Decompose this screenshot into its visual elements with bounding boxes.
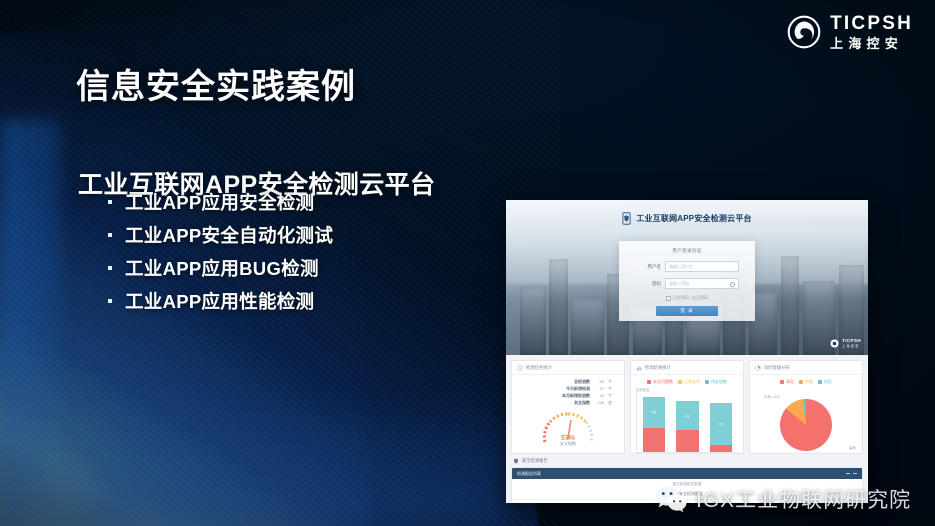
pie-chart-icon: [755, 365, 761, 371]
bullet-dot-icon: [108, 299, 112, 303]
panel-title-bar: 检测报告列表: [512, 468, 862, 479]
legend-item[interactable]: 高危: [780, 379, 794, 385]
pie-callout-label: 中危 12%: [764, 395, 779, 400]
bar-value: 52: [652, 410, 656, 415]
bar-segment-pending: 49: [676, 401, 698, 430]
feature-list: 工业APP应用安全检测 工业APP安全自动化测试 工业APP应用BUG检测 工业…: [108, 185, 468, 317]
platform-title: 工业互联网APP安全检测云平台: [636, 213, 751, 224]
bar-group: 52: [643, 392, 665, 452]
hero-corner-logo: TICPSH 上海控安: [830, 339, 861, 348]
list-item: 工业APP安全自动化测试: [108, 218, 468, 251]
stat-unit: 分: [608, 400, 614, 406]
ticpsh-swirl-icon: [787, 15, 821, 49]
legend-label: 高危: [786, 379, 794, 385]
bar-value: 49: [685, 413, 689, 418]
legend-swatch: [780, 380, 784, 384]
panel-controls[interactable]: [846, 473, 857, 474]
report-section-header: 安全检测报告: [511, 454, 863, 467]
stat-value: 15: [594, 393, 604, 398]
platform-header: 工业互联网APP安全检测云平台: [506, 212, 868, 225]
stat-key: 总检测数: [574, 379, 590, 385]
card-header: 检测结果统计: [631, 361, 743, 375]
username-placeholder: 请输入用户名: [669, 264, 693, 270]
dashboard-cards: 检测任务统计 总检测数 52 个 今天新增检测 47 个: [511, 360, 863, 454]
report-section-title: 安全检测报告: [522, 458, 548, 464]
password-input[interactable]: 请输入密码: [665, 278, 739, 289]
page-title: 信息安全实践案例: [76, 59, 356, 108]
ticpsh-swirl-icon: [830, 339, 839, 348]
panel-title: 检测报告列表: [517, 471, 541, 477]
pie-chart: 中危 12% 高危: [750, 387, 862, 454]
brand-name-cn: 上海控安: [830, 37, 913, 50]
username-label: 用户名: [635, 264, 661, 270]
stat-value: 52: [594, 379, 604, 384]
card-risk-distribution[interactable]: 风险等级分布 高危 中危 低危: [749, 360, 863, 454]
legend-label: 待处理数: [711, 379, 727, 385]
legend-item[interactable]: 中危: [799, 379, 813, 385]
chart-legend: 高危 中危 低危: [750, 375, 862, 387]
bar-group: 49: [676, 392, 698, 452]
pie-slices: [780, 399, 832, 451]
background-bottom-haze: [90, 396, 510, 526]
password-row: 密码 请输入密码: [619, 278, 755, 289]
legend-swatch: [818, 380, 822, 384]
eye-icon[interactable]: [730, 282, 735, 287]
hero-corner-logo-text: TICPSH 上海控安: [842, 339, 861, 348]
legend-item[interactable]: 已修复率: [678, 379, 700, 385]
brand-text: TICPSH 上海控安: [830, 14, 913, 50]
list-item-label: 工业APP应用BUG检测: [125, 255, 319, 281]
remember-password-row[interactable]: 记住密码 / 忘记密码: [619, 295, 755, 301]
shield-icon: [513, 458, 519, 464]
stat-unit: 个: [608, 386, 614, 392]
card-task-stats[interactable]: 检测任务统计 总检测数 52 个 今天新增检测 47 个: [511, 360, 625, 454]
legend-label: 中危: [805, 379, 813, 385]
stat-row: 安全指数 128 分: [512, 399, 614, 406]
stat-key: 今天新增检测: [566, 386, 590, 392]
background-left-edge-glow: [0, 120, 60, 526]
card-title: 风险等级分布: [764, 365, 790, 371]
stat-key: 安全指数: [574, 400, 590, 406]
stat-unit: 个: [608, 393, 614, 399]
legend-item[interactable]: 待处理数: [705, 379, 727, 385]
stat-value: 47: [594, 386, 604, 391]
list-item: 工业APP应用BUG检测: [108, 251, 468, 284]
bullet-dot-icon: [108, 200, 112, 204]
stat-row: 本月新增检测数 15 个: [512, 392, 614, 399]
gauge-caption: 安全指数: [560, 441, 576, 447]
hero-logo-name-cn: 上海控安: [842, 345, 861, 348]
login-card: 用户登录验证 用户名 请输入用户名 密码 请输入密码 记住密: [619, 241, 755, 321]
legend-label: 低危: [824, 379, 832, 385]
dashboard-body: 检测任务统计 总检测数 52 个 今天新增检测 47 个: [506, 355, 868, 503]
watermark: IGX工业物联网研究院: [654, 484, 911, 514]
remember-password-label: 记住密码 / 忘记密码: [673, 295, 708, 301]
list-item: 工业APP应用性能检测: [108, 284, 468, 317]
wechat-icon: [654, 484, 688, 514]
product-screenshot: 工业互联网APP安全检测云平台 用户登录验证 用户名 请输入用户名 密码 请输入…: [506, 200, 868, 503]
bar-group: 73: [710, 392, 732, 452]
bar-value: 73: [719, 422, 723, 427]
login-hero: 工业互联网APP安全检测云平台 用户登录验证 用户名 请输入用户名 密码 请输入…: [506, 200, 868, 355]
card-header: 检测任务统计: [512, 361, 624, 375]
minimize-icon[interactable]: [846, 473, 850, 474]
stat-key: 本月新增检测数: [562, 393, 590, 399]
login-button[interactable]: 登 录: [656, 306, 718, 316]
stat-row: 总检测数 52 个: [512, 378, 614, 385]
card-result-stats[interactable]: 检测结果统计 安全问题数 已修复率 待处理数: [630, 360, 744, 454]
card-title: 检测结果统计: [645, 365, 671, 371]
legend-swatch: [799, 380, 803, 384]
pie-outer-label: 高危: [849, 446, 856, 451]
presentation-slide: TICPSH 上海控安 信息安全实践案例 工业互联网APP安全检测云平台 工业A…: [0, 0, 935, 526]
phone-shield-icon: [622, 212, 631, 225]
bullet-dot-icon: [108, 266, 112, 270]
legend-label: 安全问题数: [653, 379, 673, 385]
watermark-text: IGX工业物联网研究院: [696, 484, 911, 514]
legend-swatch: [678, 380, 682, 384]
clock-icon: [517, 365, 523, 371]
brand-logo: TICPSH 上海控安: [787, 14, 913, 50]
login-heading: 用户登录验证: [619, 248, 755, 254]
bar-segment-pending: 52: [643, 397, 665, 428]
maximize-icon[interactable]: [853, 473, 857, 474]
legend-swatch: [705, 380, 709, 384]
username-row: 用户名 请输入用户名: [619, 261, 755, 272]
stat-list: 总检测数 52 个 今天新增检测 47 个 本月新增检测数 15 个: [512, 375, 624, 406]
bar-segment-issues: [676, 430, 698, 452]
list-item: 工业APP应用安全检测: [108, 185, 468, 218]
legend-swatch: [647, 380, 651, 384]
password-placeholder: 请输入密码: [669, 281, 689, 287]
gauge-chart: 57% 安全指数: [512, 408, 624, 446]
bar-segment-issues: [643, 428, 665, 452]
bar-chart-icon: [636, 365, 642, 371]
stacked-bar-chart: 52 49 73: [636, 392, 738, 453]
card-header: 风险等级分布: [750, 361, 862, 375]
password-label: 密码: [635, 281, 661, 287]
stat-value: 128: [594, 400, 604, 405]
legend-label: 已修复率: [684, 379, 700, 385]
card-title: 检测任务统计: [526, 365, 552, 371]
stat-row: 今天新增检测 47 个: [512, 385, 614, 392]
username-input[interactable]: 请输入用户名: [665, 261, 739, 272]
bar-segment-pending: 73: [710, 403, 732, 445]
brand-name-en: TICPSH: [830, 14, 913, 33]
list-item-label: 工业APP安全自动化测试: [125, 222, 333, 248]
stat-unit: 个: [608, 379, 614, 385]
chart-legend: 安全问题数 已修复率 待处理数: [631, 375, 743, 387]
list-item-label: 工业APP应用安全检测: [125, 189, 314, 215]
legend-item[interactable]: 安全问题数: [647, 379, 673, 385]
legend-item[interactable]: 低危: [818, 379, 832, 385]
bar-segment-issues: [710, 445, 732, 452]
list-item-label: 工业APP应用性能检测: [125, 288, 314, 314]
checkbox-icon[interactable]: [666, 296, 671, 301]
bullet-dot-icon: [108, 233, 112, 237]
